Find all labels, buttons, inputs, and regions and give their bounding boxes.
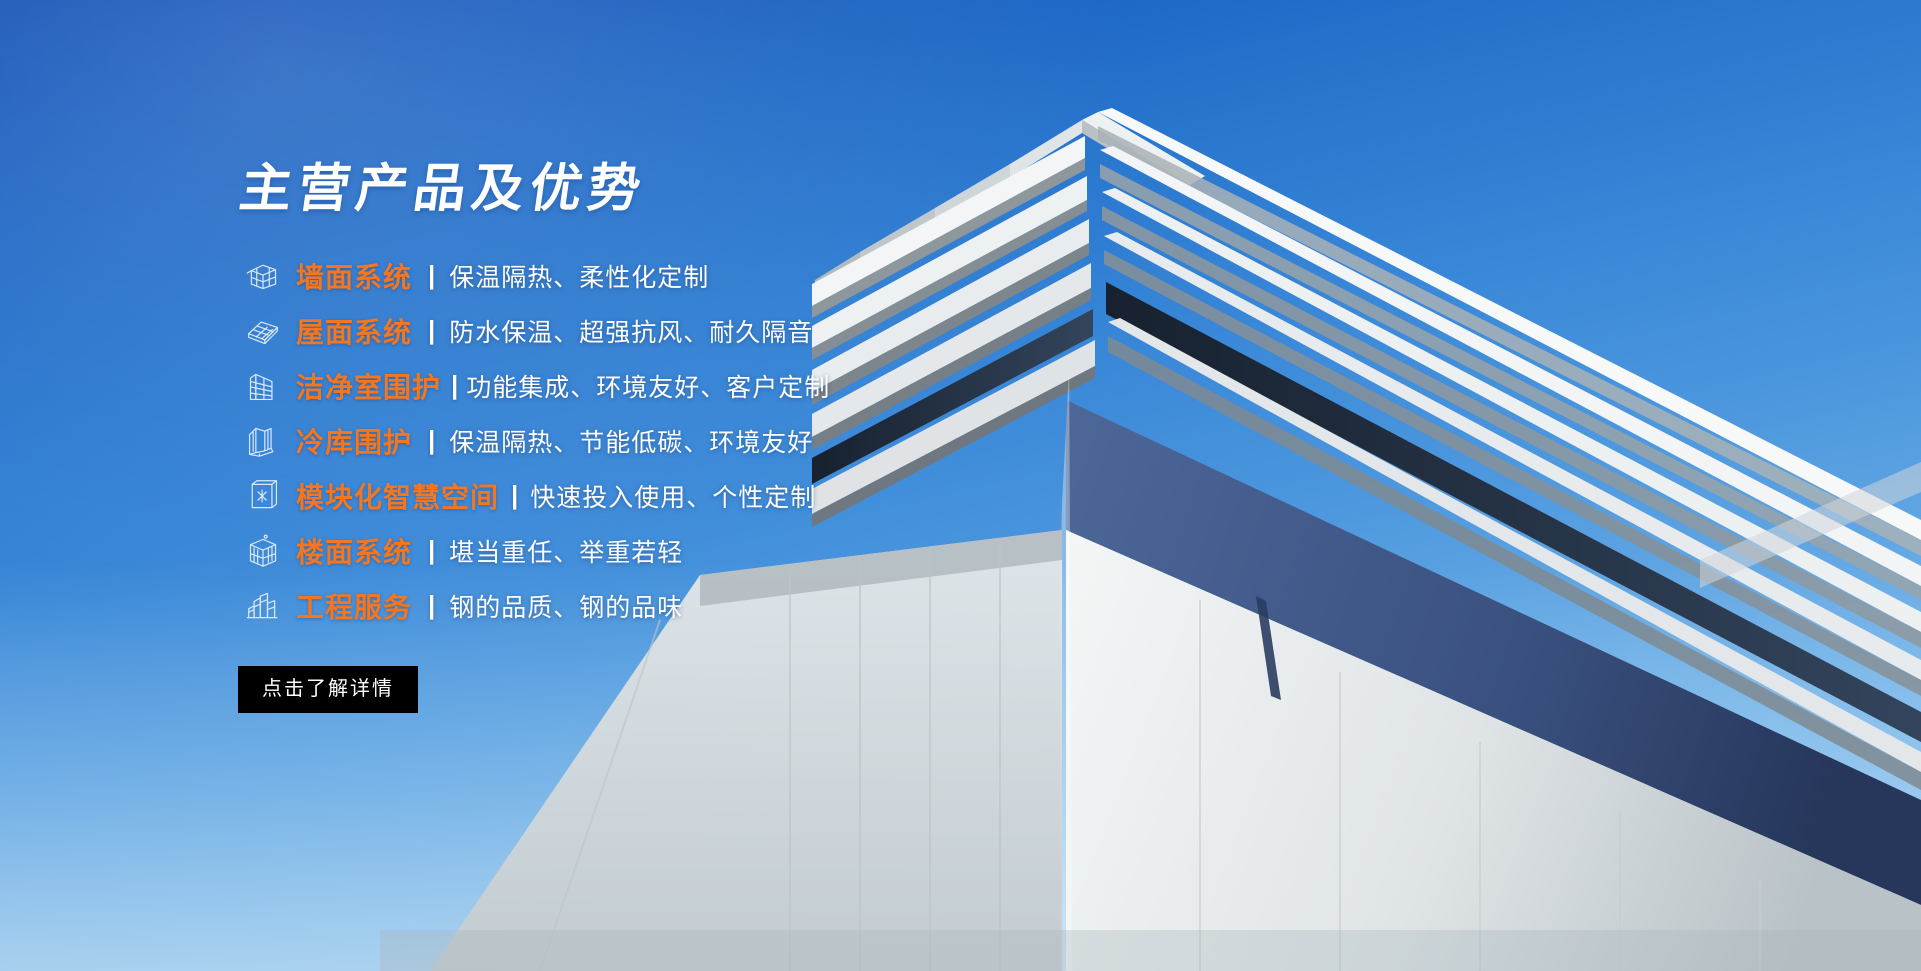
product-row[interactable]: 洁净室围护 | 功能集成、环境友好、客户定制 — [236, 359, 1136, 413]
product-description: 堪当重任、举重若轻 — [449, 533, 683, 569]
product-label: 屋面系统 — [296, 311, 412, 351]
wall-system-icon — [236, 256, 290, 296]
hero-banner: 主营产品及优势 墙面系统 | 保温隔热、柔性化定 — [0, 0, 1921, 971]
floor-system-icon — [236, 531, 290, 571]
cleanroom-enclosure-icon — [236, 366, 290, 406]
product-row[interactable]: 工程服务 | 钢的品质、钢的品味 — [236, 579, 1136, 633]
product-separator: | — [428, 592, 435, 618]
product-description: 保温隔热、柔性化定制 — [449, 258, 709, 294]
product-description: 防水保温、超强抗风、耐久隔音 — [449, 313, 813, 349]
product-label: 冷库围护 — [296, 421, 412, 461]
roof-system-icon — [236, 311, 290, 351]
product-separator: | — [451, 372, 458, 398]
modular-smart-space-icon — [236, 476, 290, 516]
product-separator: | — [428, 537, 435, 563]
product-description: 保温隔热、节能低碳、环境友好 — [449, 423, 813, 459]
product-row[interactable]: 楼面系统 | 堪当重任、举重若轻 — [236, 524, 1136, 578]
product-row[interactable]: 屋面系统 | 防水保温、超强抗风、耐久隔音 — [236, 304, 1136, 358]
cold-storage-enclosure-icon — [236, 421, 290, 461]
product-separator: | — [428, 317, 435, 343]
product-row[interactable]: 模块化智慧空间 | 快速投入使用、个性定制 — [236, 469, 1136, 523]
product-list: 墙面系统 | 保温隔热、柔性化定制 屋面系统 — [236, 249, 1136, 633]
hero-content: 主营产品及优势 墙面系统 | 保温隔热、柔性化定 — [236, 163, 1136, 713]
product-label: 楼面系统 — [296, 531, 412, 571]
product-row[interactable]: 冷库围护 | 保温隔热、节能低碳、环境友好 — [236, 414, 1136, 468]
learn-more-button[interactable]: 点击了解详情 — [238, 666, 418, 713]
product-description: 钢的品质、钢的品味 — [449, 588, 683, 624]
product-label: 工程服务 — [296, 586, 412, 626]
product-description: 功能集成、环境友好、客户定制 — [466, 368, 830, 404]
product-label: 洁净室围护 — [296, 366, 441, 406]
product-label: 墙面系统 — [296, 256, 412, 296]
product-separator: | — [511, 482, 518, 508]
product-separator: | — [428, 427, 435, 453]
product-row[interactable]: 墙面系统 | 保温隔热、柔性化定制 — [236, 249, 1136, 303]
product-separator: | — [428, 262, 435, 288]
engineering-service-icon — [236, 586, 290, 626]
product-label: 模块化智慧空间 — [296, 476, 499, 516]
product-description: 快速投入使用、个性定制 — [530, 478, 816, 514]
page-title: 主营产品及优势 — [236, 163, 1139, 215]
